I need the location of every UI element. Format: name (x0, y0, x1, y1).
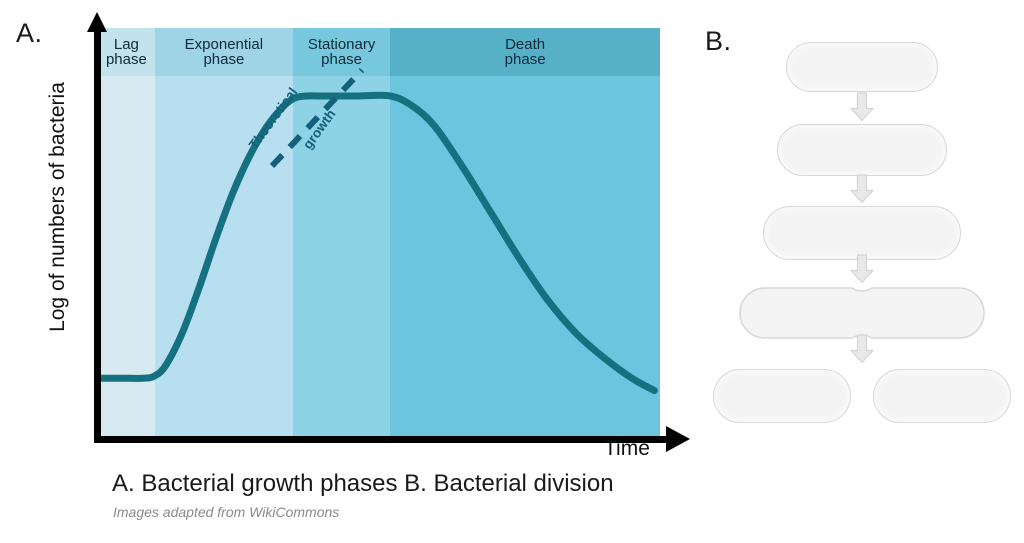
figure-source-note: Images adapted from WikiCommons (113, 504, 339, 520)
growth-chart: LagphaseExponentialphaseStationaryphaseD… (0, 0, 700, 470)
cell-stage-2 (700, 124, 1024, 176)
bacterium-cell (763, 206, 961, 260)
cell-stage-1 (700, 42, 1024, 92)
growth-curve-path (98, 95, 654, 390)
chart-plot-area: LagphaseExponentialphaseStationaryphaseD… (98, 28, 660, 440)
x-axis-arrow (666, 426, 690, 452)
division-arrow (700, 92, 1024, 122)
y-axis-label: Log of numbers of bacteria (46, 57, 70, 357)
y-axis-line (94, 30, 101, 442)
figure-caption: A. Bacterial growth phases B. Bacterial … (112, 470, 614, 498)
down-arrow-icon (849, 92, 875, 122)
down-arrow-icon (849, 334, 875, 364)
growth-curve (98, 28, 660, 440)
division-arrow (700, 254, 1024, 284)
division-arrow (700, 334, 1024, 364)
bacterium-cell (786, 42, 938, 92)
x-axis-label: Time (604, 437, 650, 461)
bacterial-division-diagram (700, 14, 1024, 444)
cell-stage-5 (700, 369, 1024, 423)
down-arrow-icon (849, 174, 875, 204)
division-arrow (700, 174, 1024, 204)
x-axis-line (94, 436, 674, 443)
cell-stage-3 (700, 206, 1024, 260)
bacterium-cell (777, 124, 947, 176)
daughter-cell (873, 369, 1011, 423)
bacterium-cell-constricting (738, 286, 986, 340)
down-arrow-icon (849, 254, 875, 284)
daughter-cell (713, 369, 851, 423)
cell-stage-4 (700, 286, 1024, 340)
y-axis-arrow (87, 12, 107, 32)
